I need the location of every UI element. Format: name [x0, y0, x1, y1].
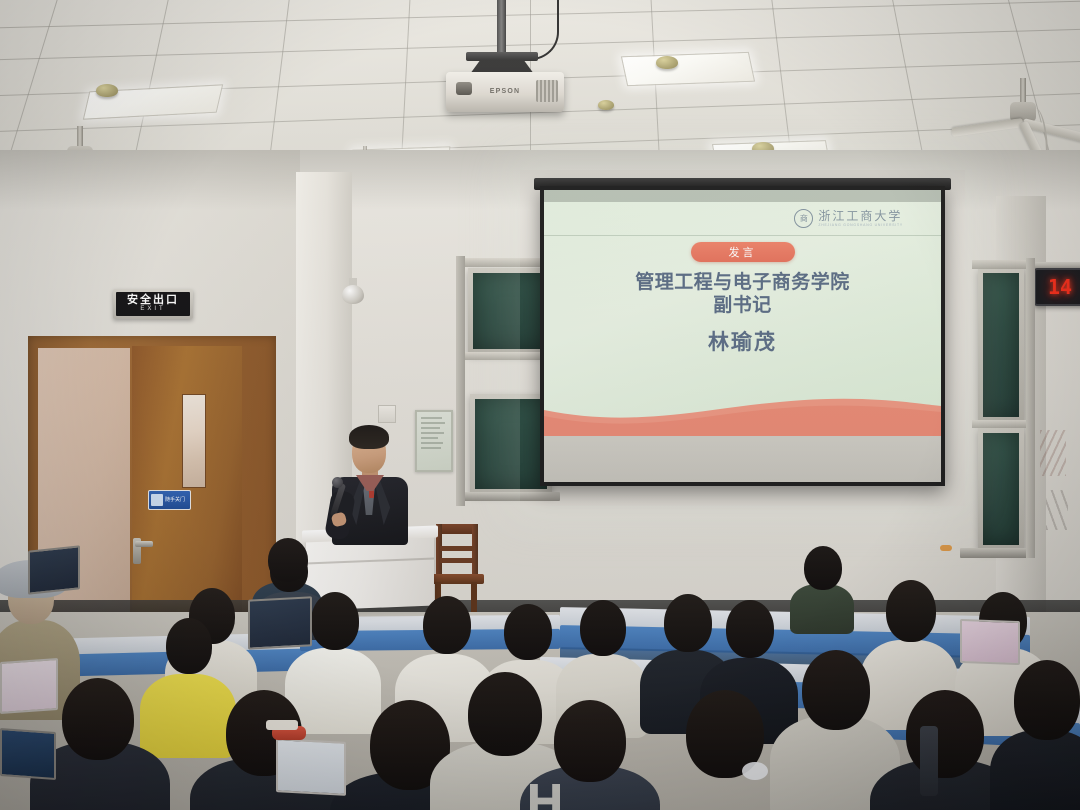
hair-bow-icon: [742, 762, 768, 780]
wall-switch-plate[interactable]: [378, 405, 396, 423]
projector-mount-arm: [466, 52, 538, 61]
presenter-hair: [349, 425, 389, 449]
slide-header: 商 浙江工商大学 ZHEJIANG GONGSHANG UNIVERSITY: [544, 202, 941, 236]
blackboard-right-upper: [978, 268, 1024, 422]
laptop[interactable]: [960, 619, 1020, 665]
slide-wave-decoration: [544, 388, 941, 438]
laptop[interactable]: [0, 728, 56, 780]
audience-member: [990, 660, 1080, 810]
presentation-slide: 商 浙江工商大学 ZHEJIANG GONGSHANG UNIVERSITY 发…: [544, 190, 941, 482]
slide-top-shadow: [544, 190, 941, 202]
door-handle[interactable]: [135, 541, 153, 547]
slide-body: 发言 管理工程与电子商务学院 副书记 林瑜茂: [544, 242, 941, 355]
projector-lens-icon: [456, 82, 472, 95]
laptop[interactable]: [276, 738, 346, 796]
university-name-en: ZHEJIANG GONGSHANG UNIVERSITY: [818, 223, 903, 228]
bag-strap: [920, 726, 938, 796]
slide-speaker-name: 林瑜茂: [708, 330, 777, 355]
led-digits: 14: [1048, 277, 1072, 297]
blackboard-right-lower: [978, 428, 1024, 550]
white-paper-on-desk: [266, 720, 298, 730]
smoke-detector-icon: [96, 84, 118, 97]
smoke-detector-icon: [656, 56, 678, 69]
led-digital-display: 14: [1034, 268, 1080, 306]
university-logo: 商 浙江工商大学 ZHEJIANG GONGSHANG UNIVERSITY: [794, 209, 903, 228]
slide-role: 副书记: [713, 294, 772, 317]
audience-member: [258, 538, 322, 598]
chalk-piece: [940, 545, 952, 551]
blackboard-right-chalk-tray: [960, 548, 1032, 558]
wall-scuff-mark: [1046, 490, 1068, 530]
door-window: [182, 394, 206, 488]
ceiling-projector: EPSON: [446, 72, 564, 112]
blackboard-left-post: [456, 256, 465, 506]
ceiling-light-panel: [621, 52, 755, 86]
projector-vent: [536, 80, 558, 102]
notice-board: [415, 410, 453, 472]
dome-camera-icon: [342, 278, 364, 304]
slide-organization: 管理工程与电子商务学院: [635, 271, 850, 294]
wave-svg: [544, 388, 941, 438]
slide-bottom-band: [544, 436, 941, 482]
laptop[interactable]: [0, 658, 58, 714]
exit-sign-label-en: EXIT: [140, 306, 165, 313]
lecture-hall-photo: 随手关门 安全出口 EXIT 14: [0, 0, 1080, 810]
university-name-cn: 浙江工商大学: [818, 210, 903, 223]
close-door-sign: 随手关门: [148, 490, 191, 510]
door-sign-pictogram: [151, 494, 163, 506]
door-sign-label: 随手关门: [163, 498, 185, 503]
audience-member: [790, 546, 854, 624]
projector-cable: [505, 0, 559, 60]
presenter: [326, 425, 412, 545]
blackboard-left-chalk-tray: [462, 492, 560, 501]
projection-screen: 商 浙江工商大学 ZHEJIANG GONGSHANG UNIVERSITY 发…: [540, 186, 945, 486]
audience-member: [520, 700, 660, 810]
microphone-head-icon: [332, 477, 343, 488]
university-seal-icon: 商: [794, 209, 813, 228]
smoke-detector-icon: [598, 100, 614, 110]
slide-badge: 发言: [691, 242, 795, 262]
exit-sign: 安全出口 EXIT: [113, 289, 193, 319]
exit-sign-label-cn: 安全出口: [127, 295, 179, 306]
blackboard-right-top-rail: [972, 260, 1030, 269]
blackboard-right-post: [1026, 258, 1035, 558]
wall-scuff-mark: [1040, 430, 1066, 476]
laptop[interactable]: [28, 545, 80, 594]
projector-brand-label: EPSON: [490, 88, 521, 95]
blackboard-right-rail: [972, 420, 1030, 428]
laptop[interactable]: [248, 596, 312, 649]
